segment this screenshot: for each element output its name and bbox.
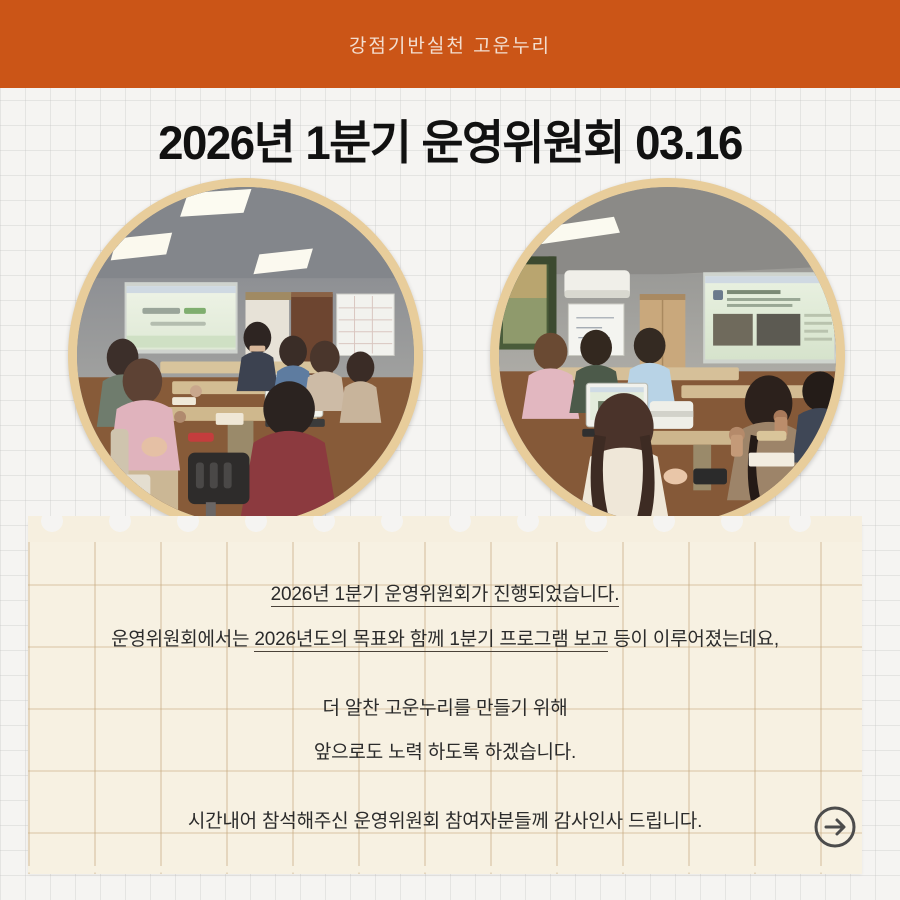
photo-left-image (77, 187, 414, 524)
note-line-2: 운영위원회에서는 2026년도의 목표와 함께 1분기 프로그램 보고 등이 이… (111, 629, 779, 652)
banner-title: 강점기반실천 고운누리 (349, 31, 551, 58)
arrow-right-circle-icon[interactable] (813, 805, 857, 849)
note-line-5: 시간내어 참석해주신 운영위원회 참여자분들께 감사인사 드립니다. (188, 811, 702, 834)
photo-right (490, 178, 845, 533)
next-button[interactable] (813, 805, 857, 849)
top-banner: 강점기반실천 고운누리 (0, 0, 900, 88)
note-line-2-part-a: 운영위원회에서는 (111, 629, 254, 650)
photo-right-image (499, 187, 836, 524)
photo-left (68, 178, 423, 533)
note-text-block: 2026년 1분기 운영위원회가 진행되었습니다. 운영위원회에서는 2026년… (28, 522, 862, 874)
card-root: 강점기반실천 고운누리 2026년 1분기 운영위원회 03.16 (0, 0, 900, 900)
note-line-1: 2026년 1분기 운영위원회가 진행되었습니다. (271, 584, 620, 607)
note-line-2-part-c: 등이 이루어졌는데요, (608, 629, 779, 650)
note-line-4: 앞으로도 노력 하도록 하겠습니다. (314, 742, 576, 765)
note-line-3: 더 알찬 고운누리를 만들기 위해 (323, 698, 568, 721)
note-line-2-part-b: 2026년도의 목표와 함께 1분기 프로그램 보고 (254, 629, 608, 652)
page-title: 2026년 1분기 운영위원회 03.16 (14, 104, 887, 173)
